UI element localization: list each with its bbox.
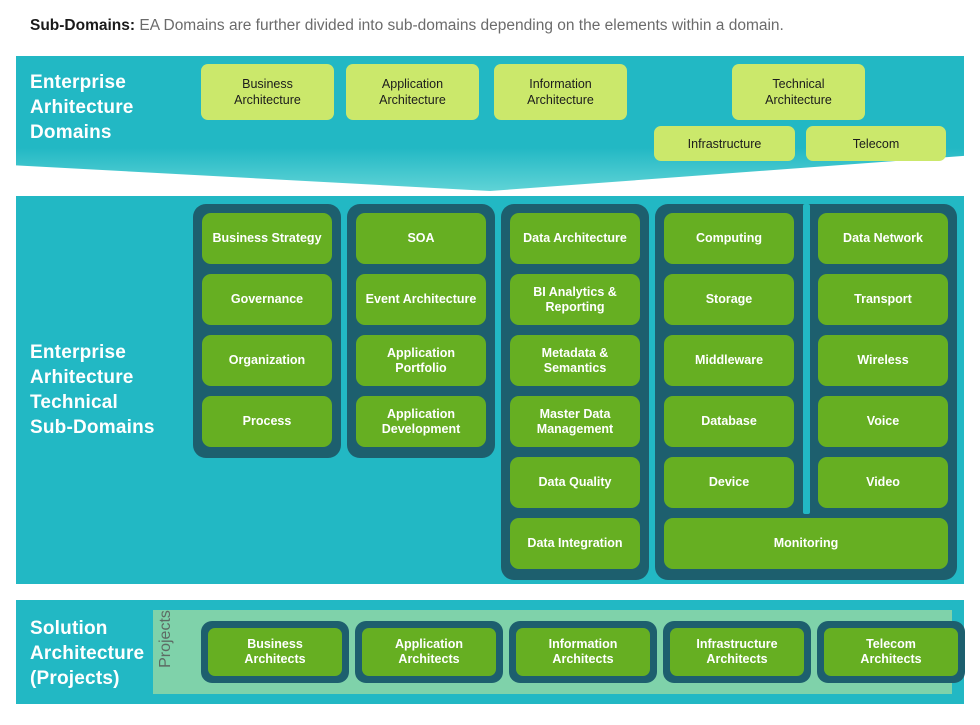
subdomain-card-database[interactable]: Database (664, 396, 794, 447)
project-card-application-architects[interactable]: ApplicationArchitects (362, 628, 496, 676)
subdomain-card-event-architecture[interactable]: Event Architecture (356, 274, 486, 325)
project-shell-telecom-architects: TelecomArchitects (817, 621, 965, 683)
project-shell-business-architects: BusinessArchitects (201, 621, 349, 683)
project-shell-infrastructure-architects: InfrastructureArchitects (663, 621, 811, 683)
project-shell-information-architects: InformationArchitects (509, 621, 657, 683)
column-divider (803, 204, 810, 514)
domain-chip-telecom[interactable]: Telecom (806, 126, 946, 161)
subdomain-card-organization[interactable]: Organization (202, 335, 332, 386)
subdomain-card-process[interactable]: Process (202, 396, 332, 447)
subdomain-card-voice[interactable]: Voice (818, 396, 948, 447)
ea-technical-subdomains-panel: EnterpriseArhitectureTechnicalSub-Domain… (16, 196, 964, 584)
subdomain-card-application-development[interactable]: ApplicationDevelopment (356, 396, 486, 447)
project-card-business-architects[interactable]: BusinessArchitects (208, 628, 342, 676)
subdomain-card-data-network[interactable]: Data Network (818, 213, 948, 264)
subdomain-card-master-data-management[interactable]: Master DataManagement (510, 396, 640, 447)
projects-band: Projects BusinessArchitects ApplicationA… (153, 610, 952, 694)
solution-architecture-panel: SolutionArchitecture(Projects) Projects … (16, 600, 964, 704)
ea-technical-subdomains-title: EnterpriseArhitectureTechnicalSub-Domain… (30, 340, 155, 440)
subdomain-card-data-quality[interactable]: Data Quality (510, 457, 640, 508)
caption: Sub-Domains: EA Domains are further divi… (30, 17, 784, 35)
project-shell-application-architects: ApplicationArchitects (355, 621, 503, 683)
subdomain-card-transport[interactable]: Transport (818, 274, 948, 325)
domain-chip-business-architecture[interactable]: BusinessArchitecture (201, 64, 334, 120)
subdomain-card-wireless[interactable]: Wireless (818, 335, 948, 386)
subdomain-card-bi-analytics-reporting[interactable]: BI Analytics &Reporting (510, 274, 640, 325)
caption-text: EA Domains are further divided into sub-… (135, 17, 784, 34)
subdomain-card-monitoring[interactable]: Monitoring (664, 518, 948, 569)
ea-domains-panel: EnterpriseArhitectureDomains BusinessArc… (16, 56, 964, 191)
subdomain-column-business: Business Strategy Governance Organizatio… (193, 204, 341, 458)
solution-architecture-title: SolutionArchitecture(Projects) (30, 616, 144, 691)
subdomain-column-application: SOA Event Architecture ApplicationPortfo… (347, 204, 495, 458)
projects-label: Projects (157, 608, 175, 670)
subdomain-card-application-portfolio[interactable]: ApplicationPortfolio (356, 335, 486, 386)
subdomain-card-data-architecture[interactable]: Data Architecture (510, 213, 640, 264)
subdomain-card-device[interactable]: Device (664, 457, 794, 508)
subdomain-card-governance[interactable]: Governance (202, 274, 332, 325)
subdomain-column-infrastructure-telecom: Computing Storage Middleware Database De… (655, 204, 957, 580)
subdomain-card-business-strategy[interactable]: Business Strategy (202, 213, 332, 264)
domain-chip-application-architecture[interactable]: ApplicationArchitecture (346, 64, 479, 120)
subdomain-card-storage[interactable]: Storage (664, 274, 794, 325)
domain-chip-infrastructure[interactable]: Infrastructure (654, 126, 795, 161)
ea-domains-title: EnterpriseArhitectureDomains (30, 70, 134, 145)
subdomain-card-soa[interactable]: SOA (356, 213, 486, 264)
subdomain-card-data-integration[interactable]: Data Integration (510, 518, 640, 569)
project-card-information-architects[interactable]: InformationArchitects (516, 628, 650, 676)
subdomain-card-computing[interactable]: Computing (664, 213, 794, 264)
subdomain-column-information: Data Architecture BI Analytics &Reportin… (501, 204, 649, 580)
domain-chip-technical-architecture[interactable]: TechnicalArchitecture (732, 64, 865, 120)
project-card-telecom-architects[interactable]: TelecomArchitects (824, 628, 958, 676)
caption-lead: Sub-Domains: (30, 17, 135, 34)
subdomain-card-video[interactable]: Video (818, 457, 948, 508)
domain-chip-information-architecture[interactable]: InformationArchitecture (494, 64, 627, 120)
subdomain-card-metadata-semantics[interactable]: Metadata &Semantics (510, 335, 640, 386)
subdomain-card-middleware[interactable]: Middleware (664, 335, 794, 386)
project-card-infrastructure-architects[interactable]: InfrastructureArchitects (670, 628, 804, 676)
